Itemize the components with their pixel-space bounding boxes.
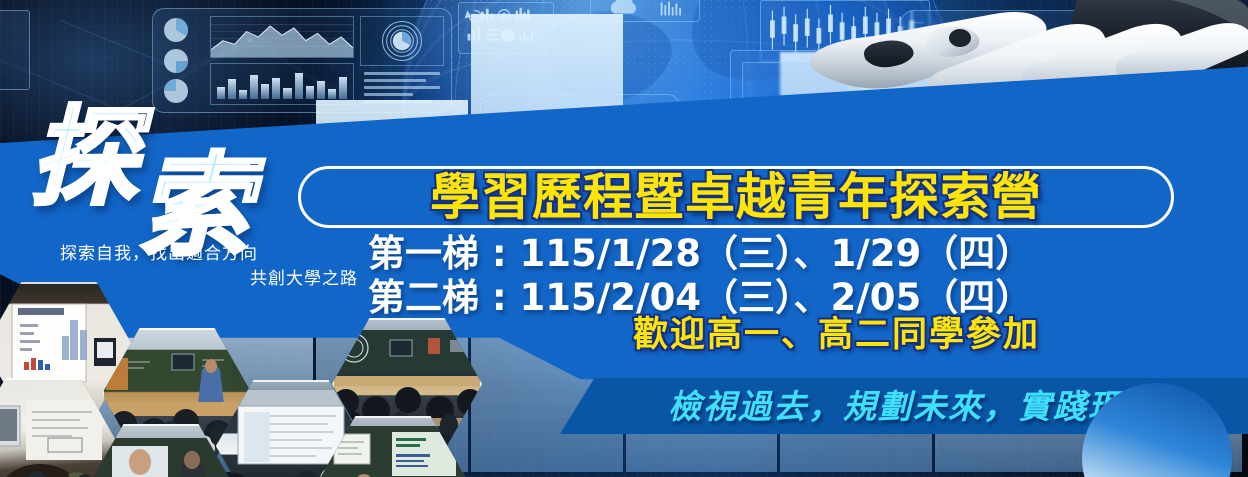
logo-char-tan: 探 xyxy=(30,105,138,213)
promotional-banner: 0 1 1 01 0 1 1 0 1 00 1 1 1 0 0 1 xyxy=(0,0,1248,477)
tagline-line-1: 探索自我，找出適合方向 xyxy=(60,244,258,264)
left-edge-hud xyxy=(0,10,30,90)
date-line-1: 第一梯 : 115/1/28（三）、1/29（四） xyxy=(368,232,1168,276)
event-title-pill: 學習歷程暨卓越青年探索營 xyxy=(298,166,1174,228)
page-title: 學習歷程暨卓越青年探索營 xyxy=(430,172,1042,222)
explore-logo: 探 索 xyxy=(30,105,340,235)
photo-collage xyxy=(0,282,584,477)
slogan-text: 檢視過去，規劃未來，實踐理想 xyxy=(650,390,1158,423)
